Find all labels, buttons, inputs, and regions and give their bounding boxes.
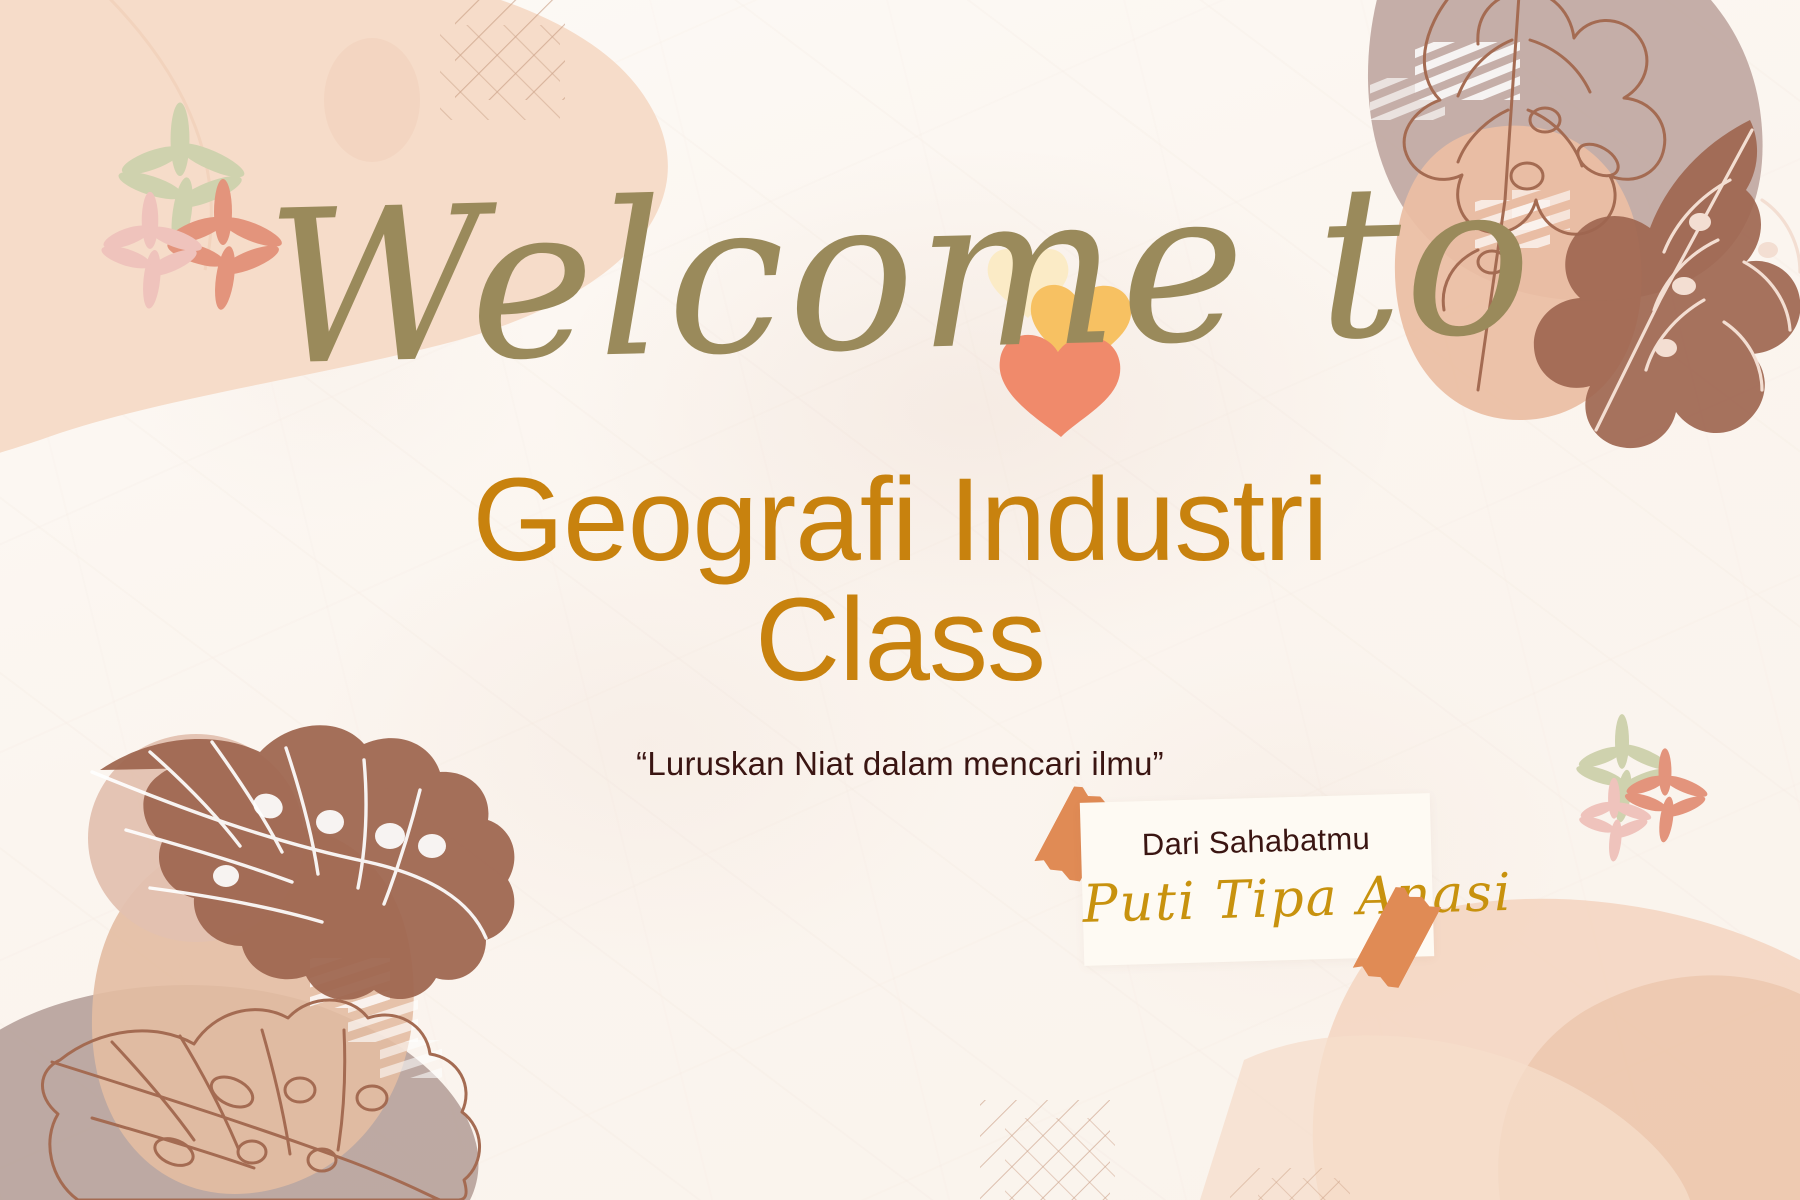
- motto-quote: “Luruskan Niat dalam mencari ilmu”: [0, 745, 1800, 783]
- slide-content: Welcome to Geografi Industri Class “Luru…: [0, 0, 1800, 1200]
- signature-from-label: Dari Sahabatmu: [1081, 819, 1432, 865]
- title-slide: Welcome to Geografi Industri Class “Luru…: [0, 0, 1800, 1200]
- title-line-1: Geografi Industri: [170, 460, 1630, 580]
- welcome-script-heading: Welcome to: [0, 146, 1800, 402]
- page-title: Geografi Industri Class: [170, 460, 1630, 701]
- title-line-2: Class: [170, 580, 1630, 700]
